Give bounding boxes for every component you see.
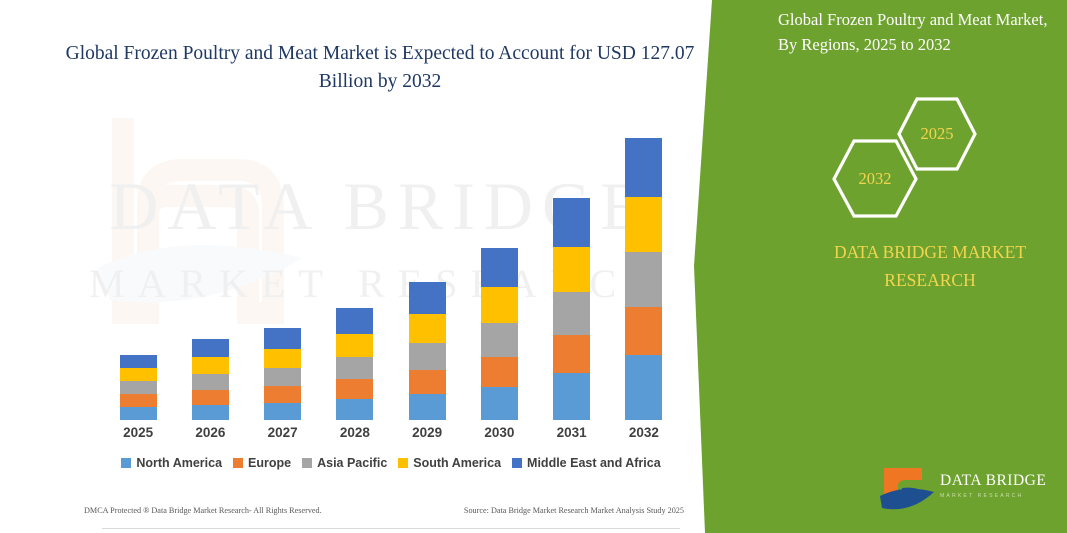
bar-segment[interactable] (192, 405, 229, 420)
x-axis-label: 2032 (614, 425, 674, 440)
panel-title: Global Frozen Poultry and Meat Market, B… (778, 8, 1050, 58)
plot-area (102, 112, 680, 420)
bar-segment[interactable] (409, 394, 446, 420)
bar-segment[interactable] (264, 368, 301, 386)
data-bridge-logo: DATA BRIDGE MARKET RESEARCH (878, 466, 1053, 518)
hexagon-start-year-label: 2025 (921, 124, 954, 144)
legend-label: South America (413, 456, 501, 470)
bar-segment[interactable] (409, 314, 446, 343)
bar-segment[interactable] (192, 374, 229, 390)
brand-name: DATA BRIDGE MARKET RESEARCH (810, 238, 1050, 294)
bar-segment[interactable] (336, 379, 373, 399)
bar-segment[interactable] (553, 198, 590, 247)
x-axis-line (102, 528, 680, 529)
bar-segment[interactable] (481, 248, 518, 287)
legend-swatch-icon (233, 458, 243, 468)
bar-segment[interactable] (553, 373, 590, 420)
bar-segment[interactable] (481, 323, 518, 357)
x-axis-labels: 20252026202720282029203020312032 (102, 425, 680, 440)
legend-item[interactable]: Asia Pacific (302, 456, 387, 470)
stacked-bar-chart (102, 110, 680, 420)
bar-segment[interactable] (409, 343, 446, 370)
bar-segment[interactable] (409, 282, 446, 314)
left-chart-panel: DATA BRIDGE MARKET RESEARCH Global Froze… (0, 0, 760, 533)
bar-segment[interactable] (264, 349, 301, 368)
bar-stack[interactable] (553, 198, 590, 420)
bar-segment[interactable] (625, 252, 662, 307)
bar-segment[interactable] (120, 407, 157, 420)
x-axis-label: 2025 (108, 425, 168, 440)
bar-stack[interactable] (336, 308, 373, 420)
bar-segment[interactable] (120, 355, 157, 368)
bar-segment[interactable] (625, 307, 662, 355)
legend-swatch-icon (398, 458, 408, 468)
bar-segment[interactable] (120, 368, 157, 381)
bar-segment[interactable] (264, 328, 301, 349)
bar-segment[interactable] (192, 390, 229, 405)
bar-stack[interactable] (264, 328, 301, 420)
legend-label: Asia Pacific (317, 456, 387, 470)
bar-stack[interactable] (409, 282, 446, 420)
footer: DMCA Protected ® Data Bridge Market Rese… (84, 506, 684, 515)
footer-copyright: DMCA Protected ® Data Bridge Market Rese… (84, 506, 322, 515)
legend-item[interactable]: Europe (233, 456, 291, 470)
hexagon-end-year: 2032 (832, 139, 918, 218)
legend-item[interactable]: Middle East and Africa (512, 456, 661, 470)
x-axis-label: 2029 (397, 425, 457, 440)
bar-segment[interactable] (625, 138, 662, 197)
bar-segment[interactable] (192, 339, 229, 357)
logo-name: DATA BRIDGE (940, 472, 1052, 490)
logo-subtitle: MARKET RESEARCH (940, 493, 1052, 499)
hexagon-end-year-label: 2032 (859, 169, 892, 189)
data-bridge-logo-icon (878, 466, 936, 516)
legend-item[interactable]: South America (398, 456, 501, 470)
bar-segment[interactable] (120, 394, 157, 407)
bar-segment[interactable] (192, 357, 229, 374)
bar-segment[interactable] (553, 292, 590, 335)
bar-segment[interactable] (336, 308, 373, 334)
bar-stack[interactable] (625, 138, 662, 420)
legend-label: Middle East and Africa (527, 456, 661, 470)
x-axis-label: 2031 (542, 425, 602, 440)
bar-segment[interactable] (409, 370, 446, 394)
bar-segment[interactable] (336, 399, 373, 420)
bar-segment[interactable] (481, 387, 518, 420)
data-bridge-logo-text: DATA BRIDGE MARKET RESEARCH (940, 472, 1052, 499)
legend-swatch-icon (121, 458, 131, 468)
x-axis-label: 2026 (180, 425, 240, 440)
footer-source: Source: Data Bridge Market Research Mark… (464, 506, 684, 515)
x-axis-label: 2027 (253, 425, 313, 440)
bar-stack[interactable] (481, 248, 518, 420)
legend-swatch-icon (302, 458, 312, 468)
x-axis-label: 2028 (325, 425, 385, 440)
chart-legend: North AmericaEuropeAsia PacificSouth Ame… (102, 456, 680, 470)
bar-segment[interactable] (553, 247, 590, 292)
legend-swatch-icon (512, 458, 522, 468)
bar-segment[interactable] (481, 357, 518, 387)
bar-stack[interactable] (192, 339, 229, 420)
bar-segment[interactable] (120, 381, 157, 394)
right-green-panel: Global Frozen Poultry and Meat Market, B… (690, 0, 1067, 533)
bar-segment[interactable] (553, 335, 590, 373)
chart-title: Global Frozen Poultry and Meat Market is… (60, 40, 700, 97)
bar-segment[interactable] (264, 403, 301, 420)
x-axis-label: 2030 (469, 425, 529, 440)
legend-label: Europe (248, 456, 291, 470)
bar-segment[interactable] (264, 386, 301, 403)
bar-segment[interactable] (336, 357, 373, 379)
legend-label: North America (136, 456, 222, 470)
bar-segment[interactable] (625, 197, 662, 252)
legend-item[interactable]: North America (121, 456, 222, 470)
bar-segment[interactable] (336, 334, 373, 357)
bar-stack[interactable] (120, 355, 157, 420)
bar-segment[interactable] (481, 287, 518, 323)
bar-segment[interactable] (625, 355, 662, 420)
